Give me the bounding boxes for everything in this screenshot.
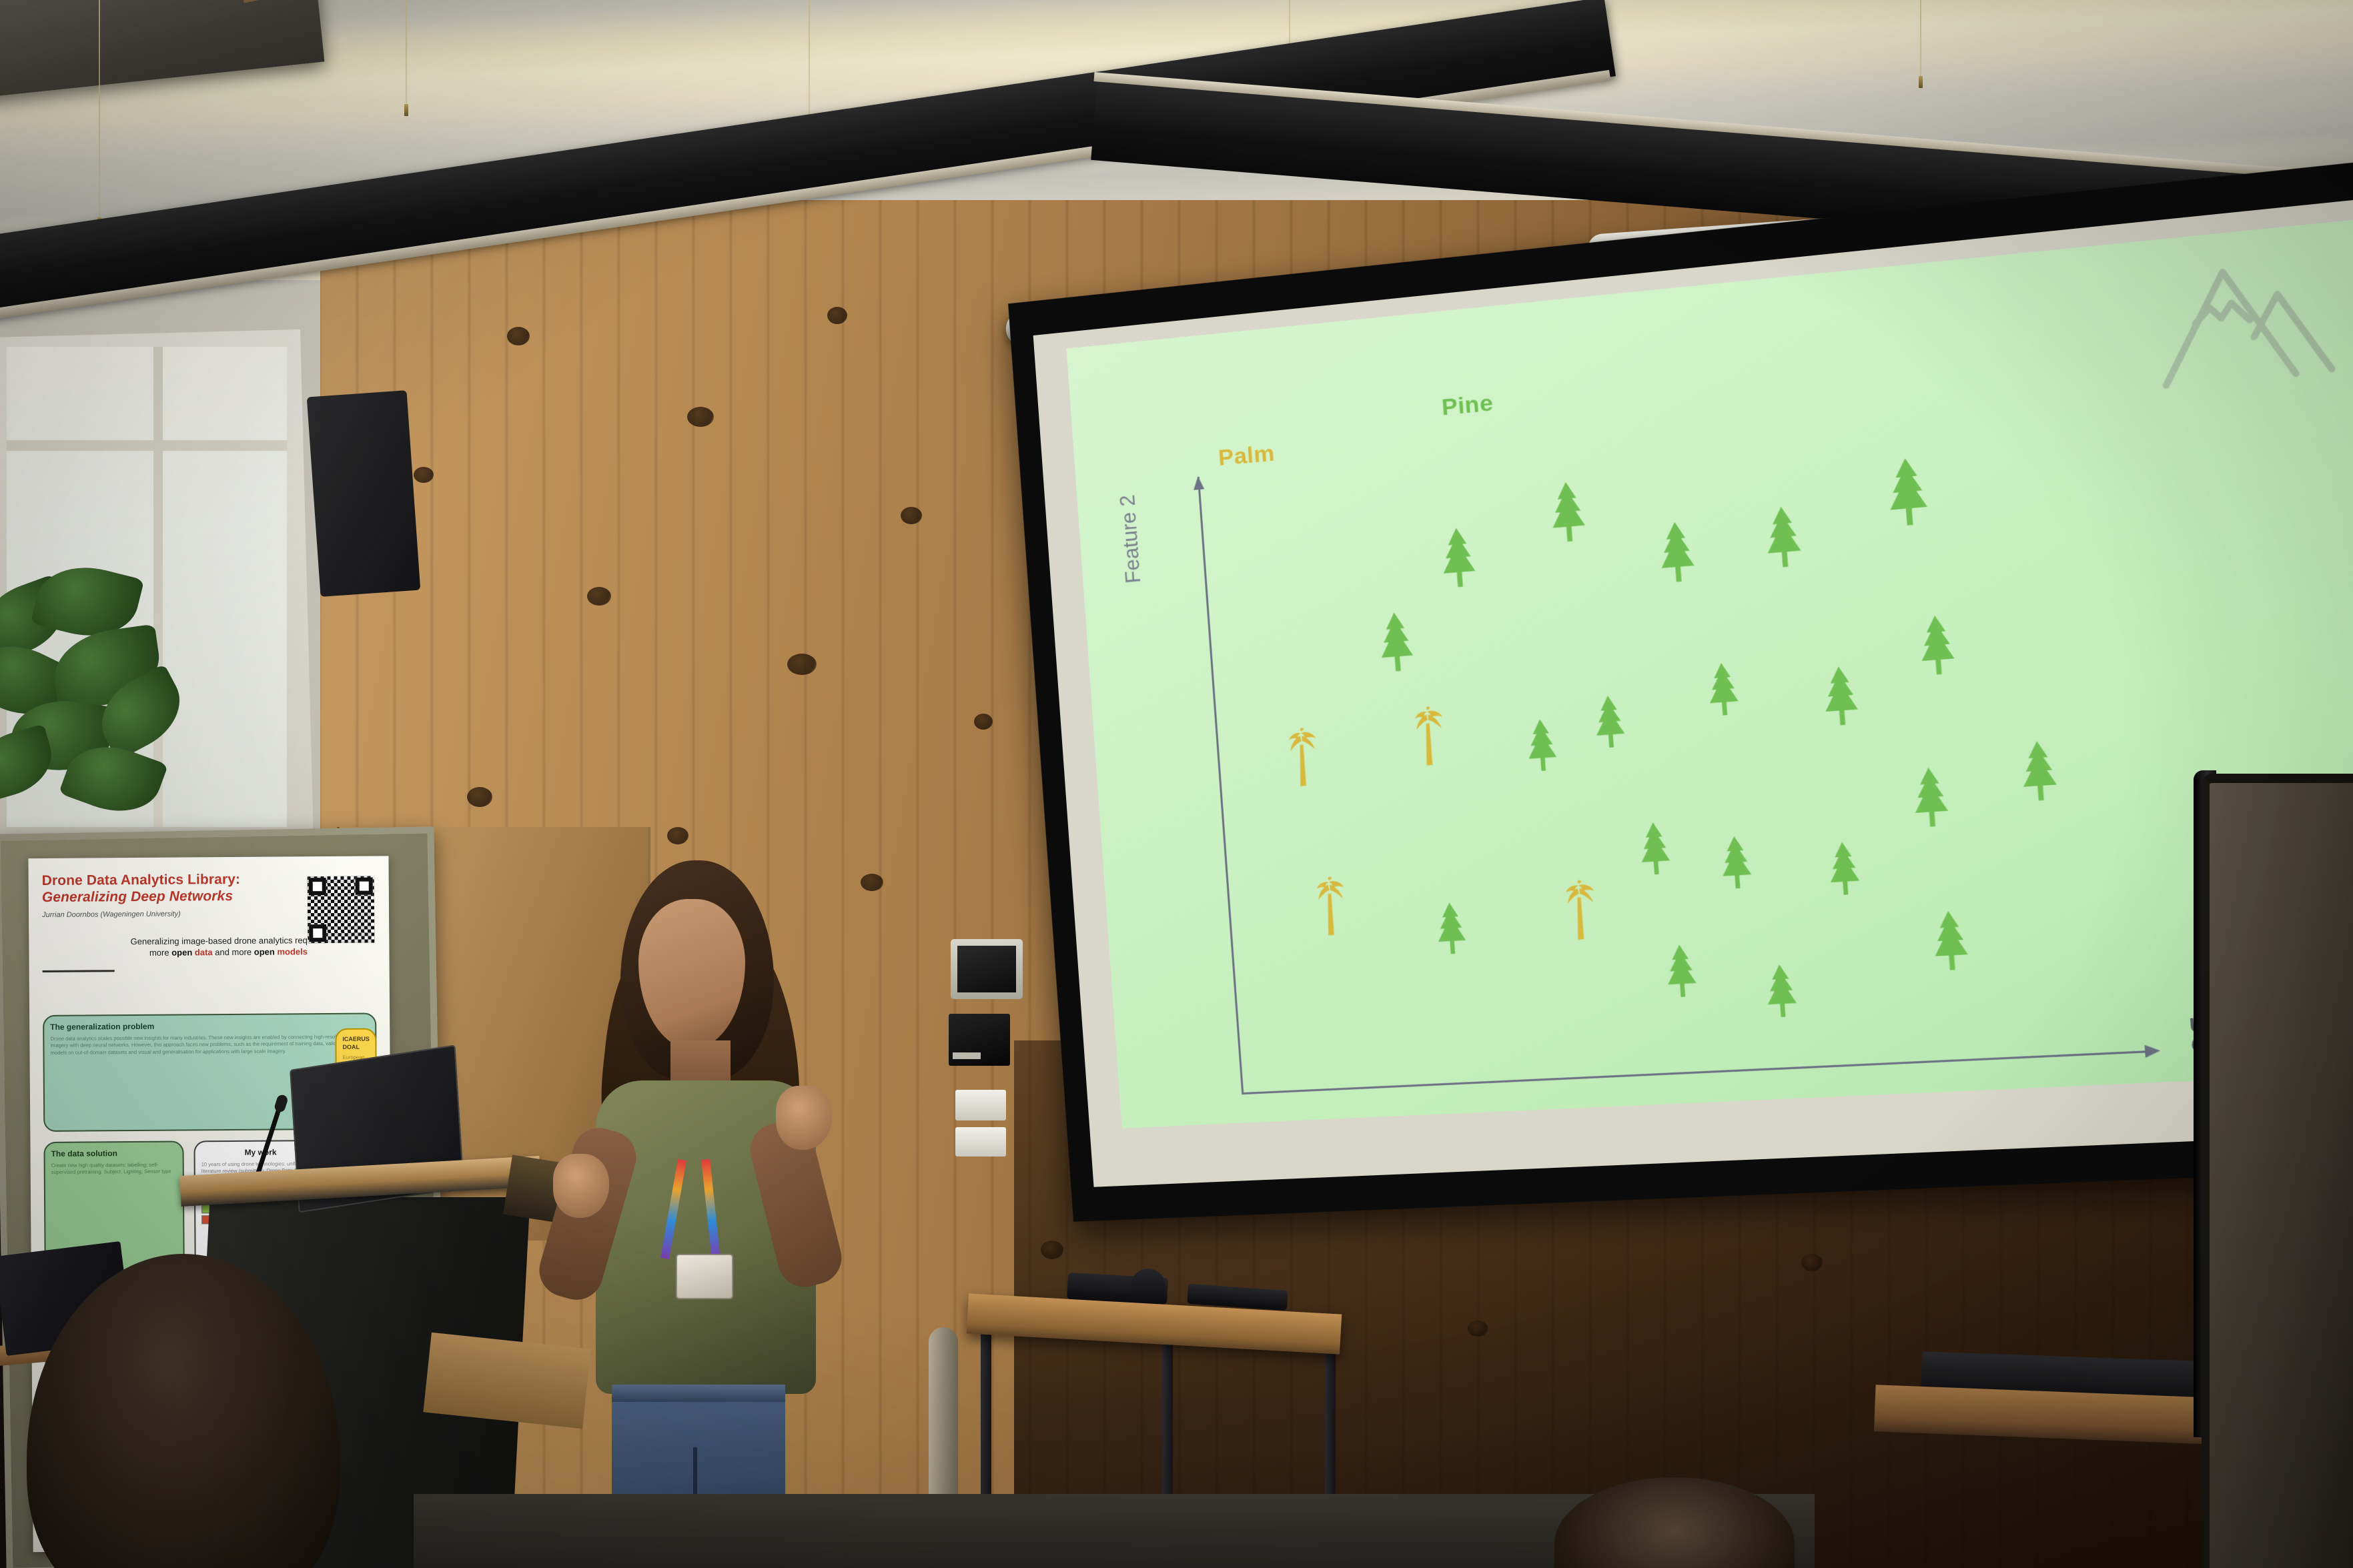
poster-section-heading: The data solution bbox=[51, 1148, 177, 1159]
light-switch-plate[interactable] bbox=[955, 1127, 1006, 1156]
scatter-markers-layer bbox=[1066, 218, 2353, 1128]
wood-knot bbox=[467, 787, 492, 807]
poster-title-line1: Drone Data Analytics Library: bbox=[42, 872, 241, 888]
wood-knot bbox=[827, 307, 847, 324]
pine-tree-marker bbox=[1661, 942, 1702, 1002]
wall-display-label-strip bbox=[953, 1052, 981, 1059]
pine-tree-marker bbox=[1907, 764, 1955, 832]
pine-tree-marker bbox=[1544, 478, 1592, 547]
poster-section-body: Drone data analytics scales possible new… bbox=[50, 1034, 369, 1056]
pine-tree-marker bbox=[1880, 455, 1934, 532]
pine-tree-marker bbox=[1702, 660, 1744, 721]
right-cabinet bbox=[2202, 774, 2353, 1568]
wood-knot bbox=[974, 714, 993, 730]
pine-tree-marker bbox=[1373, 609, 1419, 677]
light-switch-plate[interactable] bbox=[955, 1090, 1006, 1120]
presenter-belt bbox=[612, 1385, 785, 1402]
pine-tree-marker bbox=[1590, 693, 1631, 753]
palm-tree-marker bbox=[1406, 704, 1452, 772]
wood-knot bbox=[1801, 1254, 1823, 1271]
pine-tree-marker bbox=[1436, 525, 1482, 593]
pine-tree-marker bbox=[1759, 503, 1808, 573]
table-item-cup bbox=[1131, 1269, 1165, 1305]
presenter-hand-left bbox=[553, 1154, 609, 1218]
presenter-hand-right bbox=[776, 1086, 832, 1150]
poster-tagline-and: and more bbox=[213, 947, 254, 957]
wood-knot bbox=[587, 587, 611, 606]
light-suspension-wire bbox=[406, 0, 407, 107]
wood-knot bbox=[414, 467, 434, 483]
poster-tagline-more1: more bbox=[149, 948, 171, 958]
wood-knot bbox=[1468, 1321, 1488, 1337]
pine-tree-marker bbox=[1817, 664, 1864, 731]
poster-tagline-open1: open bbox=[171, 948, 192, 958]
palm-tree-marker bbox=[1556, 878, 1604, 946]
palm-tree-marker bbox=[1280, 725, 1325, 792]
pine-tree-marker bbox=[1823, 839, 1866, 900]
wall-speaker bbox=[307, 390, 421, 597]
pine-tree-marker bbox=[1431, 900, 1471, 959]
poster-section-heading: ICAERUS DOAL bbox=[342, 1035, 369, 1052]
light-suspension-wire bbox=[99, 0, 100, 220]
screenshot-root: Palm Pine Feature 2 Feature 1 bbox=[0, 0, 2353, 1568]
pine-tree-marker bbox=[1634, 820, 1675, 880]
name-badge bbox=[676, 1254, 733, 1299]
pine-tree-marker bbox=[1927, 908, 1975, 976]
poster-tagline-models: models bbox=[277, 946, 308, 956]
poster-divider bbox=[43, 970, 115, 972]
pine-tree-marker bbox=[1760, 962, 1802, 1022]
av-control-panel[interactable] bbox=[951, 939, 1023, 999]
light-suspension-wire bbox=[1920, 0, 1921, 79]
pine-tree-marker bbox=[1521, 716, 1562, 776]
wood-knot bbox=[687, 407, 714, 427]
pine-tree-marker bbox=[1715, 834, 1757, 894]
poster-qr-code[interactable] bbox=[308, 876, 375, 944]
pine-tree-marker bbox=[1653, 518, 1701, 588]
wood-knot bbox=[507, 327, 530, 345]
palm-tree-marker bbox=[1308, 875, 1353, 942]
wood-knot bbox=[1041, 1241, 1063, 1259]
wood-knot bbox=[787, 654, 817, 675]
poster-tagline-pre: Generalizing image-based drone analytics… bbox=[131, 935, 326, 946]
wood-knot bbox=[667, 827, 688, 844]
poster-tagline-open2: open bbox=[254, 947, 275, 957]
wood-knot bbox=[861, 874, 883, 891]
pine-tree-marker bbox=[2015, 738, 2064, 806]
av-control-panel-display[interactable] bbox=[957, 946, 1016, 992]
poster-section-body: Create new high quality datasets; labell… bbox=[51, 1162, 177, 1177]
wood-knot bbox=[901, 507, 922, 524]
window-mullion bbox=[7, 440, 287, 451]
poster-section-heading: The generalization problem bbox=[50, 1020, 369, 1033]
poster-tagline-data: data bbox=[195, 947, 213, 957]
projected-slide: Palm Pine Feature 2 Feature 1 bbox=[1066, 218, 2353, 1128]
presenter bbox=[564, 860, 857, 1568]
pine-tree-marker bbox=[1913, 612, 1961, 680]
